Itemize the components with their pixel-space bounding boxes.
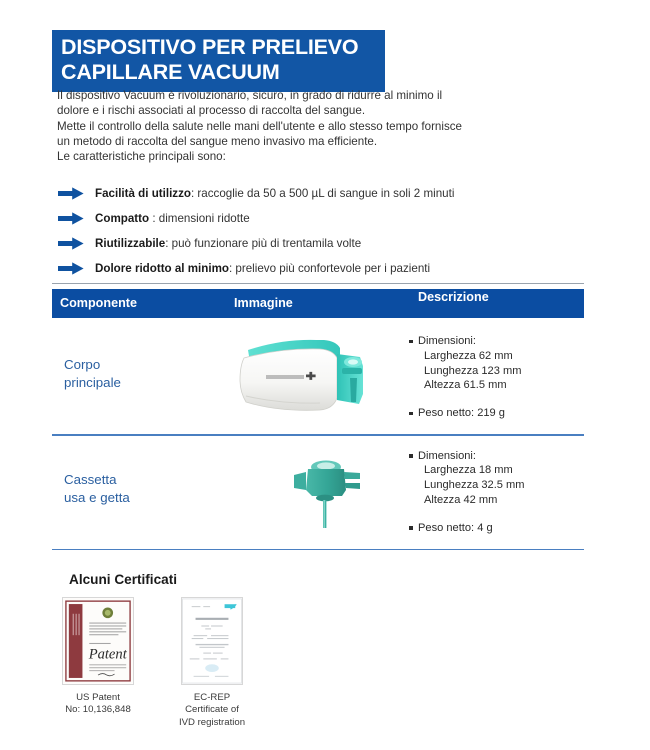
dimension-width: Larghezza 18 mm: [418, 463, 584, 478]
component-name-line-1: Cassetta: [64, 472, 116, 487]
cassette-probe-highlight: [324, 500, 325, 528]
certificate-caption-line-1: US Patent: [76, 692, 120, 703]
cassette-right-clip-upper: [344, 472, 360, 479]
component-image-cell: [232, 442, 412, 542]
page-title-banner: DISPOSITIVO PER PRELIEVO CAPILLARE VACUU…: [52, 30, 385, 92]
table-header-image: Immagine: [234, 296, 293, 310]
cassette-body: [306, 469, 346, 496]
net-weight: Peso netto: 4 g: [418, 522, 493, 534]
dimensions-label: Dimensioni:: [418, 450, 476, 462]
device-teal-lever: [350, 378, 357, 402]
dimension-height: Altezza 42 mm: [418, 493, 584, 508]
description-item: Dimensioni: Larghezza 62 mm Lunghezza 12…: [409, 334, 584, 393]
feature-detail: : raccoglie da 50 a 500 µL di sangue in …: [191, 187, 454, 200]
table-header-description: Descrizione: [418, 290, 489, 304]
intro-line-3: Mette il controllo della salute nelle ma…: [57, 119, 535, 134]
component-name-cell: Cassetta usa e getta: [64, 471, 130, 507]
ec-rep-ivd-certificate-thumbnail[interactable]: [181, 597, 243, 685]
feature-list: Facilità di utilizzo: raccoglie da 50 a …: [58, 183, 558, 283]
component-image-cell: [220, 326, 420, 426]
dimensions-label: Dimensioni:: [418, 335, 476, 347]
feature-label: Riutilizzabile: [95, 237, 165, 250]
specification-table: Componente Immagine Descrizione Corpo pr…: [52, 283, 584, 550]
table-row: Cassetta usa e getta: [52, 436, 584, 549]
disposable-cassette-photo: [232, 442, 412, 542]
description-cell: Dimensioni: Larghezza 62 mm Lunghezza 12…: [409, 334, 584, 421]
certificate-title-bar: [196, 618, 229, 620]
right-arrow-icon: [58, 187, 84, 200]
feature-label: Facilità di utilizzo: [95, 187, 191, 200]
dimension-length: Lunghezza 32.5 mm: [418, 478, 584, 493]
table-bottom-divider: [52, 549, 584, 551]
certificates-list: Patent US Patent No: 10,136,848: [52, 597, 352, 729]
component-name-line-1: Corpo: [64, 357, 100, 372]
feature-text: Compatto : dimensioni ridotte: [95, 212, 250, 225]
intro-line-4: un metodo di raccolta del sangue meno in…: [57, 134, 535, 149]
device-teal-port-inner: [348, 359, 358, 364]
certificates-title: Alcuni Certificati: [69, 572, 352, 587]
feature-text: Dolore ridotto al minimo: prelievo più c…: [95, 262, 430, 275]
description-item: Peso netto: 219 g: [409, 406, 584, 421]
cassette-top-cap-inner: [317, 462, 335, 469]
component-name-line-2: usa e getta: [64, 490, 130, 505]
right-arrow-icon: [58, 262, 84, 275]
right-arrow-icon: [58, 212, 84, 225]
feature-item: Compatto : dimensioni ridotte: [58, 208, 558, 229]
feature-item: Dolore ridotto al minimo: prelievo più c…: [58, 258, 558, 279]
description-cell: Dimensioni: Larghezza 18 mm Lunghezza 32…: [409, 449, 584, 536]
feature-item: Riutilizzabile: può funzionare più di tr…: [58, 233, 558, 254]
device-white-body: [240, 349, 337, 410]
table-header-row: Componente Immagine Descrizione: [52, 289, 584, 318]
intro-line-5: Le caratteristiche principali sono:: [57, 149, 535, 164]
table-top-rule: [52, 283, 584, 284]
feature-label: Compatto: [95, 212, 149, 225]
description-item: Dimensioni: Larghezza 18 mm Lunghezza 32…: [409, 449, 584, 508]
dimension-height: Altezza 61.5 mm: [418, 378, 584, 393]
certificate-caption: US Patent No: 10,136,848: [52, 692, 144, 717]
dimension-length: Lunghezza 123 mm: [418, 364, 584, 379]
us-patent-certificate-thumbnail[interactable]: Patent: [62, 597, 134, 685]
main-body-device-photo: [220, 326, 420, 426]
intro-line-2: dolore e i rischi associati al processo …: [57, 103, 535, 118]
certificates-section: Alcuni Certificati: [52, 572, 352, 729]
table-row: Corpo principale: [52, 318, 584, 434]
certificate-caption-line-3: IVD registration: [179, 717, 245, 728]
feature-text: Facilità di utilizzo: raccoglie da 50 a …: [95, 187, 454, 200]
certificate-item: Patent US Patent No: 10,136,848: [52, 597, 144, 729]
feature-detail: : dimensioni ridotte: [149, 212, 250, 225]
right-arrow-icon: [58, 237, 84, 250]
page-title-line-2: CAPILLARE VACUUM: [61, 60, 376, 85]
device-teal-slot: [342, 368, 362, 374]
intro-line-1: Il dispositivo Vacuum è rivoluzionario, …: [57, 88, 535, 103]
patent-script-word: Patent: [88, 647, 128, 663]
cassette-left-wing: [294, 472, 306, 490]
component-name-line-2: principale: [64, 375, 121, 390]
component-name-cell: Corpo principale: [64, 356, 121, 392]
feature-detail: : prelievo più confortevole per i pazien…: [229, 262, 430, 275]
net-weight: Peso netto: 219 g: [418, 407, 505, 419]
feature-detail: : può funzionare più di trentamila volte: [165, 237, 361, 250]
table-header-component: Componente: [60, 296, 137, 310]
certificate-caption-line-1: EC-REP: [194, 692, 230, 703]
dimension-width: Larghezza 62 mm: [418, 349, 584, 364]
certificate-item: EC-REP Certificate of IVD registration: [166, 597, 258, 729]
certificate-caption-line-2: Certificate of: [185, 704, 239, 715]
feature-item: Facilità di utilizzo: raccoglie da 50 a …: [58, 183, 558, 204]
description-item: Peso netto: 4 g: [409, 521, 584, 536]
feature-label: Dolore ridotto al minimo: [95, 262, 229, 275]
certificate-seal: [205, 664, 219, 672]
certificate-caption: EC-REP Certificate of IVD registration: [166, 692, 258, 729]
page-title-line-1: DISPOSITIVO PER PRELIEVO: [61, 35, 376, 60]
cassette-probe-needle: [323, 500, 326, 528]
feature-text: Riutilizzabile: può funzionare più di tr…: [95, 237, 361, 250]
cassette-right-clip-lower: [345, 483, 360, 489]
intro-text-block: Il dispositivo Vacuum è rivoluzionario, …: [57, 88, 535, 164]
certificate-caption-line-2: No: 10,136,848: [65, 704, 131, 715]
